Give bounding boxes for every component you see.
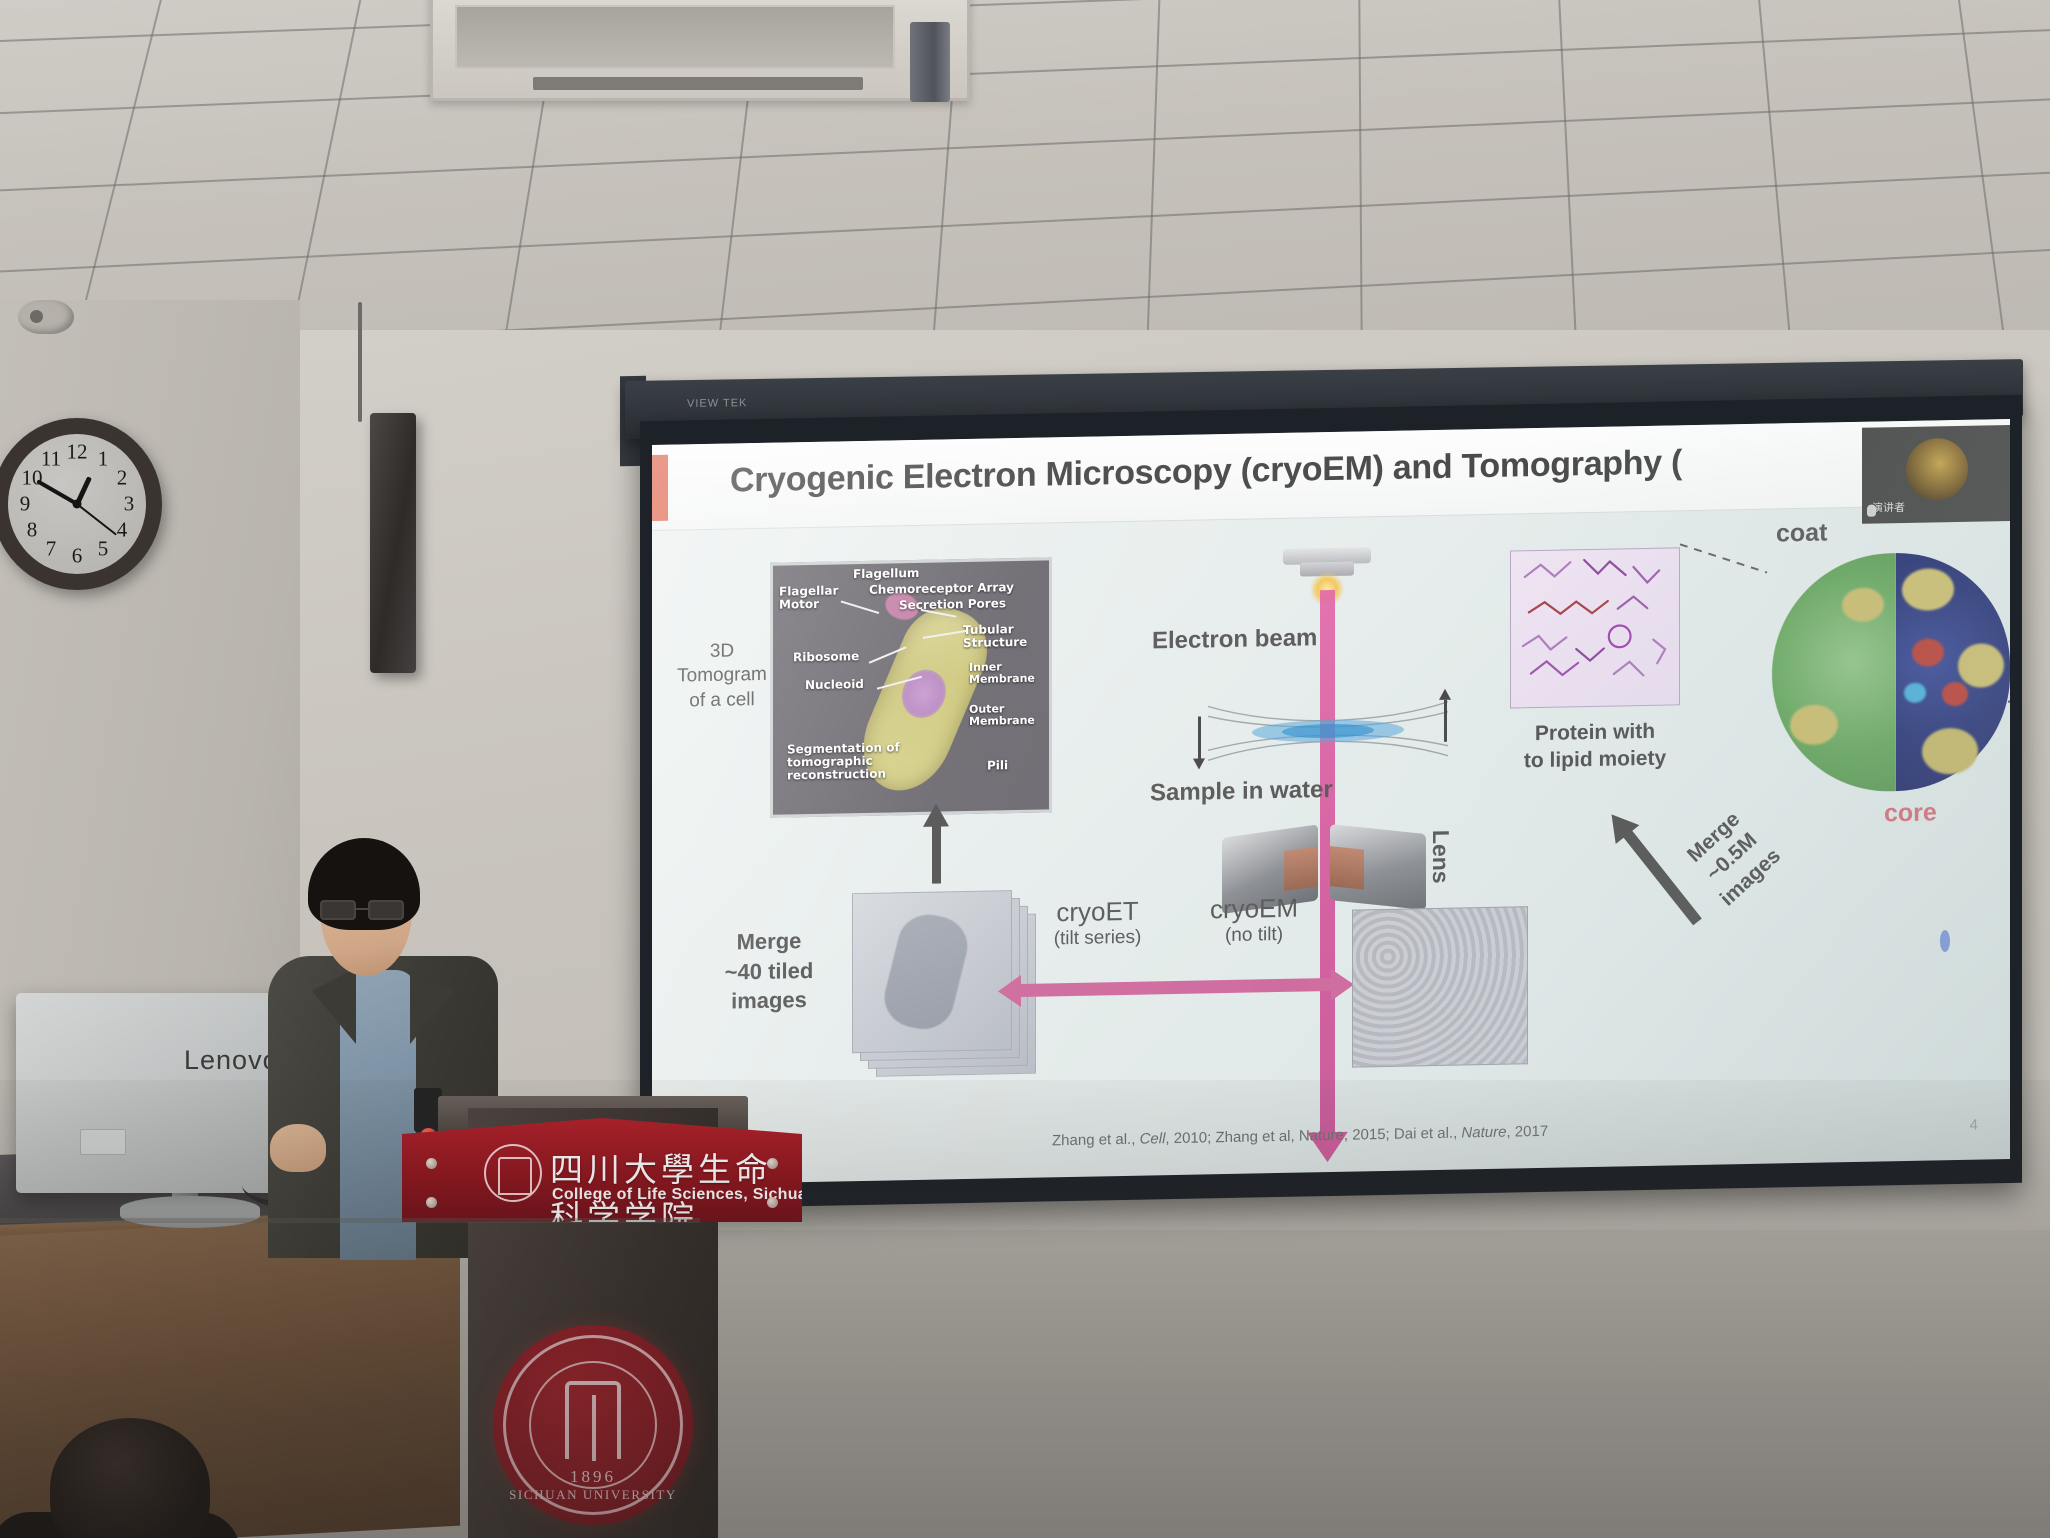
slide-title-bar: Cryogenic Electron Microscopy (cryoEM) a… xyxy=(652,419,2010,531)
wall-clock: 121234567891011 xyxy=(0,418,162,590)
clock-numeral: 6 xyxy=(72,544,83,569)
label-electron-beam: Electron beam xyxy=(1152,624,1317,655)
webcam-participant-face xyxy=(1906,438,1968,501)
label-protein-lipid-line-0: Protein with xyxy=(1495,717,1695,748)
clock-numeral: 12 xyxy=(67,440,88,465)
vitrified-sample-layer xyxy=(1208,698,1448,765)
annotation-outer-membrane-line-1: Membrane xyxy=(969,714,1035,728)
clock-numeral: 10 xyxy=(21,466,42,491)
clock-numeral: 9 xyxy=(20,492,31,517)
ac-vent-grille xyxy=(455,5,895,69)
annotation-secretion-pores: Secretion Pores xyxy=(899,597,1006,612)
virus-capsid-render xyxy=(1772,551,2010,794)
label-cryoet: cryoET (tilt series) xyxy=(1030,895,1165,951)
label-cryoet-sub: (tilt series) xyxy=(1030,926,1165,951)
slide-title: Cryogenic Electron Microscopy (cryoEM) a… xyxy=(730,443,1682,500)
wall-marker-dot xyxy=(1940,930,1950,952)
clock-numeral: 1 xyxy=(98,446,109,471)
room-floor-shadow xyxy=(0,1080,2050,1538)
clock-face: 121234567891011 xyxy=(8,434,146,574)
tomogram-side-label: 3D Tomogram of a cell xyxy=(674,639,770,714)
wall-speaker xyxy=(370,413,416,673)
annotation-outer-membrane: Outer Membrane xyxy=(969,703,1035,728)
label-coat: coat xyxy=(1776,518,1827,548)
annotation-flagellum: Flagellum xyxy=(853,567,919,581)
label-cryoet-main: cryoET xyxy=(1056,896,1138,928)
lenovo-logo: Lenovo xyxy=(184,1045,279,1076)
ceiling-tile-line xyxy=(0,90,2050,194)
clock-numeral: 2 xyxy=(117,466,128,491)
branch-double-arrow xyxy=(1020,978,1332,997)
ceiling-vent-handle xyxy=(910,22,950,102)
label-cryoem-sub: (no tilt) xyxy=(1180,923,1328,948)
glasses-lens-left xyxy=(320,900,356,920)
annotation-inner-membrane: Inner Membrane xyxy=(969,661,1035,686)
protein-lipid-inset-panel xyxy=(1510,547,1680,708)
glasses-lens-right xyxy=(368,900,404,920)
annotation-tubular-structure: Tubular Structure xyxy=(963,623,1027,651)
clock-numeral: 8 xyxy=(27,518,38,543)
leader-line-motor xyxy=(841,600,880,613)
clock-minute-hand xyxy=(36,479,78,505)
ceiling-ac-unit xyxy=(430,0,970,101)
arrow-sample-up xyxy=(1444,700,1447,742)
label-merge-tilt-series: Merge ~40 tiled images xyxy=(694,925,844,1017)
annotation-chemoreceptor-array: Chemoreceptor Array xyxy=(869,581,1014,597)
ac-louver xyxy=(533,77,863,90)
lipid-network-render xyxy=(1511,548,1679,707)
annotation-flagellar-motor-line-1: Motor xyxy=(779,597,819,612)
tomogram-side-label-line-0: 3D xyxy=(674,639,770,665)
annotation-inner-membrane-line-1: Membrane xyxy=(969,672,1035,686)
lecture-hall-photo: 121234567891011 VIEW TEK Cryogenic Elect… xyxy=(0,0,2050,1538)
title-accent-bar xyxy=(652,455,668,521)
smoke-detector-icon xyxy=(18,300,74,334)
label-sample-in-water: Sample in water xyxy=(1150,776,1333,808)
webcam-thumbnail[interactable]: 演讲者 xyxy=(1862,425,2010,524)
tomogram-side-label-line-2: of a cell xyxy=(674,687,770,713)
tomogram-image-panel: Flagellum Flagellar Motor Chemoreceptor … xyxy=(770,557,1052,817)
lens-left-pole xyxy=(1284,846,1318,891)
clock-hour-hand xyxy=(75,476,92,505)
lens-right-half xyxy=(1330,824,1426,910)
annotation-segmentation-line-2: reconstruction xyxy=(787,767,886,783)
clock-numeral: 3 xyxy=(124,492,135,517)
capsid-outer-coat xyxy=(1772,553,1896,793)
label-merge-single-particle: Merge ~0.5M images xyxy=(1649,776,1815,938)
cryoem-micrograph xyxy=(1352,906,1528,1067)
arrow-to-tomogram xyxy=(932,825,941,883)
label-protein-lipid-line-1: to lipid moiety xyxy=(1495,744,1695,775)
lens-right-pole xyxy=(1330,846,1364,890)
ceiling-tile-line xyxy=(0,22,2050,117)
annotation-ribosome: Ribosome xyxy=(793,650,859,664)
label-cryoem: cryoEM (no tilt) xyxy=(1180,892,1328,948)
capsid-blob xyxy=(1922,728,1978,775)
wall-baseboard-seam xyxy=(0,1218,700,1223)
clock-numeral: 5 xyxy=(98,537,109,562)
label-core: core xyxy=(1884,798,1937,828)
clock-numeral: 7 xyxy=(46,537,57,562)
clock-numeral: 11 xyxy=(41,446,61,471)
screen-brand-label: VIEW TEK xyxy=(687,397,747,410)
clock-second-hand xyxy=(77,503,117,535)
tilt-image-sheet-front xyxy=(852,890,1012,1053)
annotation-flagellar-motor: Flagellar Motor xyxy=(779,584,838,612)
speaker-cable xyxy=(358,302,362,422)
leader-dashes-coat xyxy=(1680,543,1768,573)
webcam-participant-name: 演讲者 xyxy=(1872,499,1905,516)
annotation-pili: Pili xyxy=(987,759,1008,773)
presentation-slide: Cryogenic Electron Microscopy (cryoEM) a… xyxy=(652,419,2010,1185)
annotation-tubular-structure-line-1: Structure xyxy=(963,635,1027,650)
annotation-segmentation: Segmentation of tomographic reconstructi… xyxy=(787,741,900,783)
label-cryoem-main: cryoEM xyxy=(1210,893,1298,925)
clock-numeral: 4 xyxy=(117,518,128,543)
label-merge-tilt-line-1: ~40 tiled xyxy=(694,955,844,988)
label-protein-lipid: Protein with to lipid moiety xyxy=(1495,717,1695,775)
tomogram-side-label-line-1: Tomogram xyxy=(674,663,770,689)
label-merge-tilt-line-2: images xyxy=(694,985,844,1018)
ceiling-tile-line xyxy=(0,0,2050,44)
glasses-bridge xyxy=(356,908,368,910)
label-merge-tilt-line-0: Merge xyxy=(694,925,844,958)
tilt-image-cell xyxy=(878,909,973,1035)
presenter-glasses xyxy=(320,900,414,920)
annotation-nucleoid: Nucleoid xyxy=(805,678,864,692)
arrow-sample-down xyxy=(1198,716,1201,758)
label-lens: Lens xyxy=(1427,830,1454,884)
